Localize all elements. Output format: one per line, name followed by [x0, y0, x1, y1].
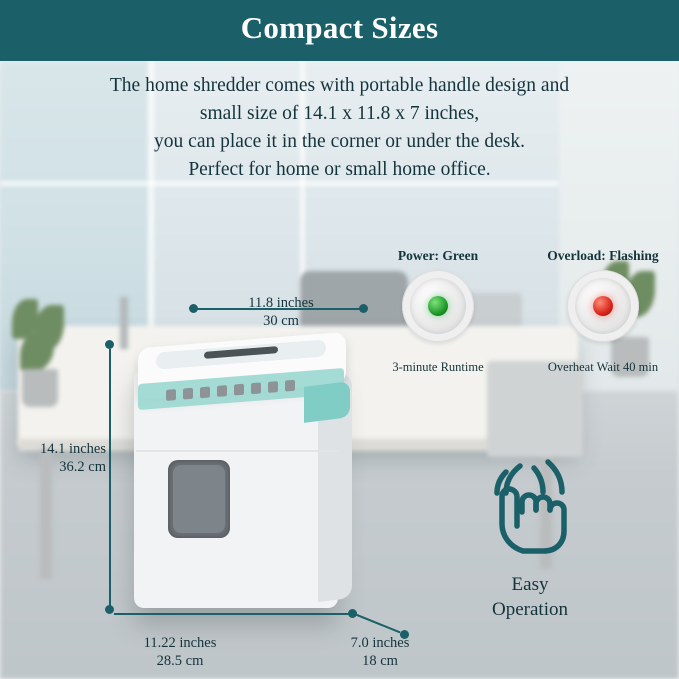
overload-led-red-icon — [593, 296, 613, 316]
easy-operation-line-1: Easy — [440, 572, 620, 597]
measure-bottom-side-cm: 18 cm — [300, 652, 460, 670]
measure-top-inches: 11.8 inches — [216, 294, 346, 312]
description-line-2: small size of 14.1 x 11.8 x 7 inches, — [0, 100, 679, 128]
power-indicator-title: Power: Green — [378, 248, 498, 264]
measure-dot — [105, 605, 114, 614]
measure-bottom-side-inches: 7.0 inches — [300, 634, 460, 652]
shredder-icon — [183, 387, 193, 399]
measure-label-left: 14.1 inches 36.2 cm — [22, 440, 106, 476]
measure-left-cm: 36.2 cm — [22, 458, 106, 476]
description-line-1: The home shredder comes with portable ha… — [0, 72, 679, 100]
overload-indicator-title: Overload: Flashing — [538, 248, 668, 264]
power-indicator-group: Power: Green 3-minute Runtime — [378, 248, 498, 388]
overload-indicator-group: Overload: Flashing Overheat Wait 40 min — [538, 248, 668, 388]
shredder-icon — [200, 386, 210, 398]
shredder-icon — [166, 389, 176, 401]
power-led-housing — [402, 270, 474, 342]
measure-label-bottom-side: 7.0 inches 18 cm — [300, 634, 460, 670]
header-band: Compact Sizes — [0, 0, 679, 61]
measure-top-cm: 30 cm — [216, 312, 346, 330]
overload-led-housing — [567, 270, 639, 342]
overload-indicator-caption: Overheat Wait 40 min — [530, 360, 676, 375]
measure-line-bottom-front — [114, 613, 352, 615]
shredder-icon — [285, 379, 295, 391]
description-line-4: Perfect for home or small home office. — [0, 156, 679, 184]
measure-left-inches: 14.1 inches — [22, 440, 106, 458]
measure-label-bottom-front: 11.22 inches 28.5 cm — [110, 634, 250, 670]
easy-operation-line-2: Operation — [440, 597, 620, 622]
description-block: The home shredder comes with portable ha… — [0, 72, 679, 184]
power-indicator-caption: 3-minute Runtime — [366, 360, 510, 375]
easy-operation-label: Easy Operation — [440, 572, 620, 622]
shredder-icon — [217, 385, 227, 397]
plant-left — [8, 299, 74, 419]
shredder-seam — [136, 450, 338, 452]
measure-line-left — [109, 349, 111, 609]
description-line-3: you can place it in the corner or under … — [0, 128, 679, 156]
shredder-view-window-inner — [173, 465, 225, 533]
shredder-view-window — [168, 460, 230, 538]
power-led-green-icon — [428, 296, 448, 316]
measure-bottom-front-cm: 28.5 cm — [110, 652, 250, 670]
measure-dot — [359, 304, 368, 313]
shredder-icon — [268, 381, 278, 393]
page-title: Compact Sizes — [0, 10, 679, 46]
measure-dot — [105, 340, 114, 349]
tap-hand-icon — [476, 452, 586, 562]
measure-label-top: 11.8 inches 30 cm — [216, 294, 346, 330]
product-infographic: Compact Sizes The home shredder comes wi… — [0, 0, 679, 679]
paper-shredder-product — [122, 318, 360, 616]
measure-bottom-front-inches: 11.22 inches — [110, 634, 250, 652]
shredder-icon — [234, 383, 244, 395]
shredder-icon — [251, 382, 261, 394]
